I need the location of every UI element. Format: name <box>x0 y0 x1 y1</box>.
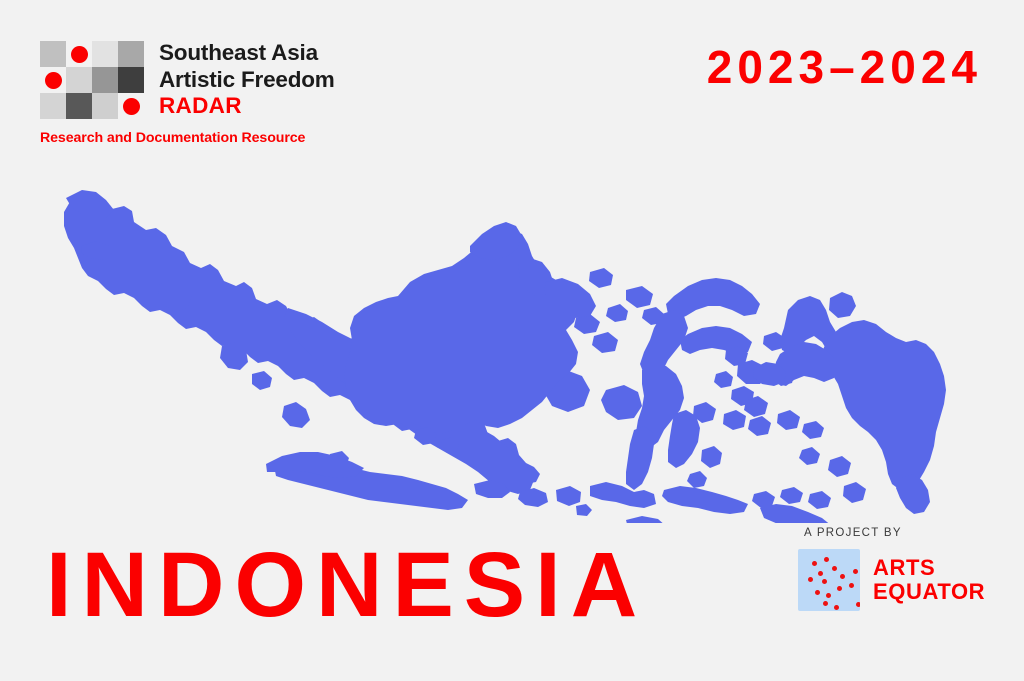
logo-cell-6 <box>92 67 118 93</box>
artsequator-line-1: ARTS <box>873 556 985 580</box>
logo-cell-7 <box>118 67 144 93</box>
artsequator-dot-7 <box>853 569 858 574</box>
year-range: 2023–2024 <box>707 44 982 90</box>
logo-red-dot-icon <box>123 98 140 115</box>
brand-block: Southeast Asia Artistic Freedom RADAR Re… <box>40 40 640 146</box>
footer: INDONESIA A PROJECT BY ARTS EQUATOR <box>0 521 1024 681</box>
project-credit: A PROJECT BY ARTS EQUATOR <box>798 527 988 611</box>
logo-cell-2 <box>92 41 118 67</box>
logo-cell-10 <box>92 93 118 119</box>
artsequator-dot-12 <box>823 601 828 606</box>
artsequator-line-2: EQUATOR <box>873 580 985 604</box>
artsequator-dot-9 <box>826 593 831 598</box>
artsequator-dot-10 <box>837 586 842 591</box>
artsequator-dot-4 <box>822 579 827 584</box>
indonesia-map <box>38 178 986 523</box>
logo-cell-9 <box>66 93 92 119</box>
artsequator-wordmark: ARTS EQUATOR <box>873 556 985 604</box>
brand-line-radar: RADAR <box>159 93 335 120</box>
brand-text: Southeast Asia Artistic Freedom RADAR <box>159 40 335 120</box>
country-title: INDONESIA <box>46 539 647 631</box>
logo-cell-11 <box>118 93 144 119</box>
artsequator-dots-mark-icon <box>798 549 860 611</box>
artsequator-dot-11 <box>849 583 854 588</box>
artsequator-dot-6 <box>840 574 845 579</box>
logo-cell-1 <box>66 41 92 67</box>
artsequator-dot-13 <box>834 605 839 610</box>
brand-line-1: Southeast Asia <box>159 40 335 67</box>
artsequator-dot-3 <box>818 571 823 576</box>
credit-label: A PROJECT BY <box>804 527 988 539</box>
artsequator-logo[interactable]: ARTS EQUATOR <box>798 549 988 611</box>
logo-cell-5 <box>66 67 92 93</box>
artsequator-dot-14 <box>856 602 860 607</box>
artsequator-dot-1 <box>824 557 829 562</box>
artsequator-dot-5 <box>808 577 813 582</box>
logo-red-dot-icon <box>45 72 62 89</box>
logo-cell-3 <box>118 41 144 67</box>
logo-cell-0 <box>40 41 66 67</box>
brand-line-2: Artistic Freedom <box>159 67 335 94</box>
map-landmasses <box>64 190 946 523</box>
radar-checker-logo-icon <box>40 41 144 120</box>
artsequator-dot-0 <box>812 561 817 566</box>
artsequator-dot-8 <box>815 590 820 595</box>
logo-cell-4 <box>40 67 66 93</box>
cover-page: Southeast Asia Artistic Freedom RADAR Re… <box>0 0 1024 681</box>
logo-red-dot-icon <box>71 46 88 63</box>
artsequator-dot-2 <box>832 566 837 571</box>
logo-cell-8 <box>40 93 66 119</box>
header: Southeast Asia Artistic Freedom RADAR Re… <box>0 0 1024 170</box>
indonesia-map-svg <box>38 178 986 523</box>
brand-subtitle: Research and Documentation Resource <box>40 130 640 146</box>
